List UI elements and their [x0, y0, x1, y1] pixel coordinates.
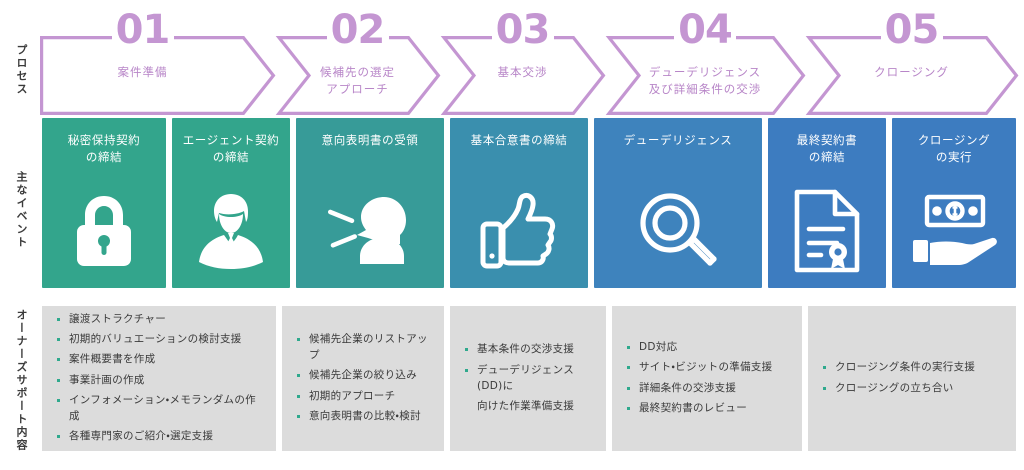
process-step-number: 04: [635, 10, 775, 50]
row-label-process: プロセス: [6, 30, 36, 110]
process-step-title: デューデリジェンス及び詳細条件の交渉: [635, 64, 775, 97]
event-card-3[interactable]: 意向表明書の受領: [296, 118, 444, 288]
row-label-support: オーナーズサポート内容: [6, 310, 36, 450]
row-label-events: 主なイベント: [6, 140, 36, 280]
process-step-number: 05: [835, 10, 988, 50]
support-list-item: クロージング条件の実行支援: [822, 360, 1002, 376]
support-list-item: 譲渡ストラクチャー: [56, 312, 262, 328]
support-list-item: 基本条件の交渉支援: [464, 342, 592, 358]
support-list-item: 最終契約書のレビュー: [626, 401, 788, 417]
certificate-document-icon: [768, 188, 886, 274]
money-hand-icon: [892, 188, 1016, 274]
support-row: 譲渡ストラクチャー初期的バリュエーションの検討支援案件概要書を作成事業計画の作成…: [40, 306, 1018, 451]
process-step-title: 基本交渉: [470, 64, 575, 81]
event-card-6[interactable]: 最終契約書の締結: [768, 118, 886, 288]
process-step-title: クロージング: [835, 64, 988, 81]
process-step-number: 03: [470, 10, 575, 50]
event-card-4[interactable]: 基本合意書の締結: [450, 118, 588, 288]
event-card-title: 意向表明書の受領: [300, 132, 440, 149]
ma-process-diagram: プロセス 主なイベント オーナーズサポート内容 01案件準備02候補先の選定アプ…: [0, 0, 1024, 470]
support-list-item: 初期的アプローチ: [296, 389, 430, 405]
support-list-item: 案件概要書を作成: [56, 352, 262, 368]
agent-person-icon: [172, 188, 290, 274]
support-list-item: 各種専門家のご紹介・選定支援: [56, 429, 262, 445]
process-step-05[interactable]: 05クロージング: [835, 10, 988, 115]
magnifier-icon: [594, 188, 762, 274]
event-card-title: 基本合意書の締結: [454, 132, 584, 149]
event-card-title: 秘密保持契約の締結: [46, 132, 162, 167]
support-list-item: 初期的バリュエーションの検討支援: [56, 332, 262, 348]
support-panel-1: 譲渡ストラクチャー初期的バリュエーションの検討支援案件概要書を作成事業計画の作成…: [42, 306, 276, 451]
process-step-01[interactable]: 01案件準備: [40, 10, 245, 115]
lock-icon: [42, 188, 166, 274]
support-list-item: 事業計画の作成: [56, 373, 262, 389]
events-row: 秘密保持契約の締結 エージェント契約の締結 意向表明書の受領 基本合意書の締結 …: [40, 118, 1018, 288]
thumbs-up-icon: [450, 188, 588, 274]
support-list-item: 向けた作業準備支援: [464, 399, 592, 415]
support-panel-5: クロージング条件の実行支援クロージングの立ち合い: [808, 306, 1016, 451]
process-step-title: 候補先の選定アプローチ: [305, 64, 410, 97]
support-list-item: 候補先企業の絞り込み: [296, 368, 430, 384]
event-card-7[interactable]: クロージングの実行: [892, 118, 1016, 288]
support-panel-2: 候補先企業のリストアップ候補先企業の絞り込み初期的アプローチ意向表明書の比較・検…: [282, 306, 444, 451]
process-step-03[interactable]: 03基本交渉: [470, 10, 575, 115]
process-row: 01案件準備02候補先の選定アプローチ03基本交渉04デューデリジェンス及び詳細…: [40, 10, 1018, 115]
event-card-2[interactable]: エージェント契約の締結: [172, 118, 290, 288]
process-step-number: 02: [305, 10, 410, 50]
support-panel-4: DD対応サイト・ビジットの準備支援詳細条件の交渉支援最終契約書のレビュー: [612, 306, 802, 451]
process-step-number: 01: [40, 10, 245, 50]
event-card-5[interactable]: デューデリジェンス: [594, 118, 762, 288]
event-card-title: クロージングの実行: [896, 132, 1012, 167]
support-list-item: インフォメーション・メモランダムの作成: [56, 393, 262, 425]
process-step-title: 案件準備: [40, 64, 245, 81]
event-card-1[interactable]: 秘密保持契約の締結: [42, 118, 166, 288]
support-list-item: DD対応: [626, 340, 788, 356]
support-list-item: デューデリジェンス(DD)に: [464, 363, 592, 395]
support-list-item: サイト・ビジットの準備支援: [626, 360, 788, 376]
support-list-item: クロージングの立ち合い: [822, 381, 1002, 397]
support-panel-3: 基本条件の交渉支援デューデリジェンス(DD)に向けた作業準備支援: [450, 306, 606, 451]
support-list-item: 詳細条件の交渉支援: [626, 381, 788, 397]
event-card-title: 最終契約書の締結: [772, 132, 882, 167]
event-card-title: エージェント契約の締結: [176, 132, 286, 167]
speaking-person-icon: [296, 188, 444, 274]
process-step-02[interactable]: 02候補先の選定アプローチ: [305, 10, 410, 115]
process-step-04[interactable]: 04デューデリジェンス及び詳細条件の交渉: [635, 10, 775, 115]
support-list-item: 候補先企業のリストアップ: [296, 332, 430, 364]
support-list-item: 意向表明書の比較・検討: [296, 409, 430, 425]
event-card-title: デューデリジェンス: [598, 132, 758, 149]
